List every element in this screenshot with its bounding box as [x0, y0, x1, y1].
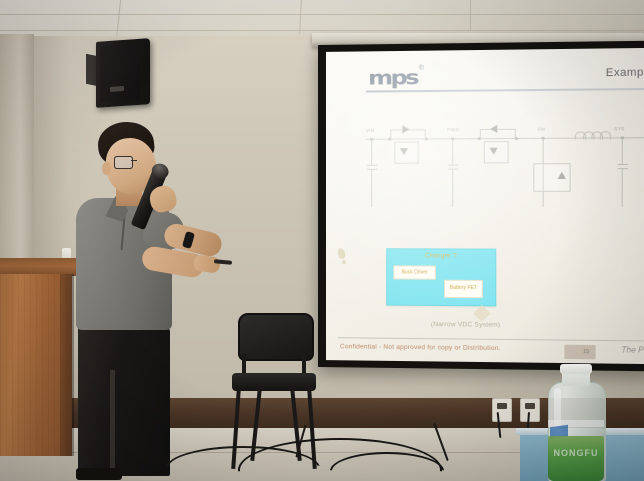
circuit-wire [371, 139, 372, 165]
confidential-notice: Confidential - Not approved for copy or … [340, 343, 501, 352]
callout-caption: (Narrow VDC System) [374, 321, 558, 330]
circuit-wire [480, 129, 481, 138]
presenter-ear [102, 162, 111, 175]
callout-box-buck-driver: Buck Driver [393, 265, 436, 279]
circuit-wire [480, 129, 515, 130]
bottle-cap [560, 364, 592, 374]
circuit-wire [425, 129, 426, 138]
slide-surface: mps ® Examp VIN PMID SW SYS [326, 48, 644, 364]
ceiling-speaker [96, 38, 150, 108]
presenter [58, 120, 228, 470]
presenter-shoe [76, 468, 122, 480]
page-number: 15 [583, 349, 589, 355]
circuit-schematic: VIN PMID SW SYS [362, 126, 644, 249]
callout-pointer-icon [473, 305, 490, 322]
circuit-wire [371, 169, 372, 207]
photo-scene: mps ® Examp VIN PMID SW SYS [0, 0, 644, 481]
projector-screen: mps ® Examp VIN PMID SW SYS [318, 41, 644, 372]
callout-title: Charger ? [387, 252, 495, 259]
fet-arrow-icon [400, 148, 408, 155]
wall-column [0, 34, 34, 274]
circuit-wire [452, 138, 453, 164]
footer-right-text: The P [621, 345, 643, 354]
bottle-label: NONGFU [548, 436, 604, 481]
slide-footer-rule [338, 337, 644, 341]
circuit-label-pmid: PMID [447, 127, 459, 132]
inductor-symbol [575, 131, 610, 138]
diode-symbol [402, 125, 409, 133]
bottle-label-text: NONGFU [548, 448, 604, 458]
glasses-bridge [131, 160, 137, 161]
speaker-badge [110, 86, 124, 92]
page-number-tab [564, 345, 595, 360]
ceiling-tile-seam [0, 30, 644, 31]
wall-outlet[interactable] [520, 398, 540, 422]
mps-logo: mps [368, 67, 417, 90]
circuit-wire [608, 137, 623, 138]
circuit-wire [622, 168, 623, 207]
diode-symbol [490, 125, 497, 133]
speaker-grille [100, 44, 140, 103]
trouser-leg-gap [110, 370, 115, 478]
circuit-wire [515, 129, 516, 138]
wall-outlet[interactable] [492, 398, 512, 422]
glasses-icon [114, 156, 158, 167]
battery-terminal-icon [342, 260, 346, 264]
circuit-wire [562, 138, 577, 139]
circuit-wire [452, 169, 453, 207]
circuit-label-vin: VIN [366, 128, 374, 133]
trademark-icon: ® [419, 65, 424, 72]
charger-callout-box: Charger ? Buck Driver Battery FET [386, 248, 496, 306]
circuit-label-sw: SW [537, 127, 545, 132]
circuit-label-sys: SYS [614, 126, 624, 131]
circuit-wire [622, 137, 623, 164]
ceiling-tile-seam [470, 0, 471, 30]
chair-seat [232, 373, 316, 391]
battery-icon [337, 247, 346, 259]
slide-title: Examp [606, 66, 644, 79]
ceiling-tile-seam [0, 14, 644, 15]
fet-arrow-icon [558, 172, 566, 179]
water-bottle: NONGFU [548, 368, 604, 481]
callout-box-battery-fet: Battery FET [444, 280, 483, 298]
presenter-trousers [78, 326, 170, 476]
circuit-wire [390, 130, 391, 139]
fet-arrow-icon [490, 148, 498, 155]
